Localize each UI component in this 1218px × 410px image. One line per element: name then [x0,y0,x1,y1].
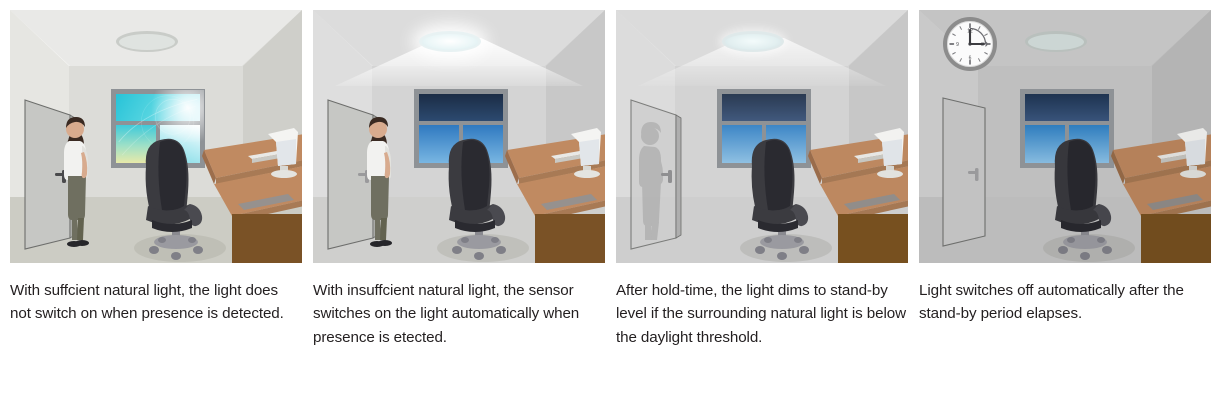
office-furniture [1037,108,1211,263]
step-panel-4: 12 9 3 6 [919,10,1211,349]
step-panel-1: With suffcient natural light, the light … [10,10,302,349]
clock-numeral-3: 3 [981,42,984,48]
ceiling-lamp-dimmed [722,31,784,52]
door-closed [937,96,1015,254]
door-open [628,92,706,250]
wall-clock: 12 9 3 6 [941,15,999,73]
scene-dusk-light-on [313,10,605,263]
office-furniture [431,108,605,263]
clock-numeral-6: 6 [969,56,972,62]
step-panel-3: After hold-time, the light dims to stand… [616,10,908,349]
scene-dimmed-standby [616,10,908,263]
panel-caption: With suffcient natural light, the light … [10,279,300,326]
ceiling-lamp-on [419,31,481,52]
ceiling-lamp-off [1025,31,1087,52]
illustration-sequence: With suffcient natural light, the light … [0,0,1218,349]
panel-caption: With insuffcient natural light, the sens… [313,279,603,349]
office-furniture [128,108,302,263]
scene-light-off-empty: 12 9 3 6 [919,10,1211,263]
person-standing [359,114,397,250]
clock-numeral-12: 12 [967,29,973,35]
person-standing [56,114,94,250]
panel-caption: Light switches off automatically after t… [919,279,1209,326]
clock-numeral-9: 9 [956,42,959,48]
scene-daylight-light-off [10,10,302,263]
step-panel-2: With insuffcient natural light, the sens… [313,10,605,349]
panel-caption: After hold-time, the light dims to stand… [616,279,906,349]
office-furniture [734,108,908,263]
ceiling-lamp-off [116,31,178,52]
